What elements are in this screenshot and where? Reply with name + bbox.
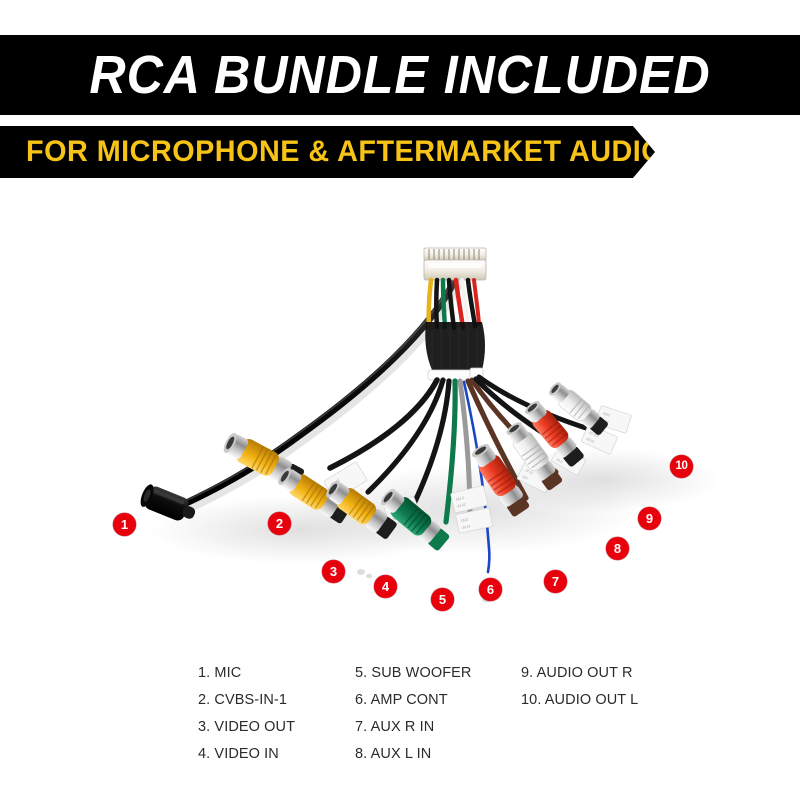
legend-column-1: 1. MIC 2. CVBS-IN-1 3. VIDEO OUT 4. VIDE… [198, 660, 295, 768]
callout-badge-8[interactable]: 8 [606, 537, 629, 560]
legend-item-3: 3. VIDEO OUT [198, 714, 295, 741]
heatshrink-cluster [425, 322, 485, 370]
subtitle-text: FOR MICROPHONE & AFTERMARKET AUDIO [26, 137, 664, 167]
legend-item-4: 4. VIDEO IN [198, 741, 295, 768]
callout-badge-10[interactable]: 10 [670, 455, 693, 478]
legend-item-10: 10. AUDIO OUT L [521, 687, 638, 714]
page-title: RCA BUNDLE INCLUDED [89, 48, 710, 102]
legend-item-8: 8. AUX L IN [355, 741, 472, 768]
blue-wire-amp-cont-tip [488, 548, 489, 572]
legend-item-9: 9. AUDIO OUT R [521, 660, 638, 687]
callout-badge-3[interactable]: 3 [322, 560, 345, 583]
legend-item-5: 5. SUB WOOFER [355, 660, 472, 687]
header-bar: RCA BUNDLE INCLUDED [0, 35, 800, 115]
legend-item-2: 2. CVBS-IN-1 [198, 687, 295, 714]
legend: 1. MIC 2. CVBS-IN-1 3. VIDEO OUT 4. VIDE… [0, 660, 800, 760]
callout-badge-7[interactable]: 7 [544, 570, 567, 593]
callout-badge-1[interactable]: 1 [113, 513, 136, 536]
legend-item-6: 6. AMP CONT [355, 687, 472, 714]
white-jst-connector [424, 248, 486, 280]
callout-badge-6[interactable]: 6 [479, 578, 502, 601]
legend-column-2: 5. SUB WOOFER 6. AMP CONT 7. AUX R IN 8.… [355, 660, 472, 768]
legend-column-3: 9. AUDIO OUT R 10. AUDIO OUT L [521, 660, 638, 714]
legend-item-7: 7. AUX R IN [355, 714, 472, 741]
subtitle-banner: FOR MICROPHONE & AFTERMARKET AUDIO [0, 126, 655, 178]
callout-badge-9[interactable]: 9 [638, 507, 661, 530]
callout-badge-2[interactable]: 2 [268, 512, 291, 535]
callout-badge-4[interactable]: 4 [374, 575, 397, 598]
callout-badge-5[interactable]: 5 [431, 588, 454, 611]
legend-item-1: 1. MIC [198, 660, 295, 687]
product-image: ZZZ ZZZZ ZZZZZZZ ZZ ZZZZZ ZZZ ZZZ ZZ ZZZ… [0, 180, 800, 660]
infographic-page: RCA BUNDLE INCLUDED FOR MICROPHONE & AFT… [0, 0, 800, 800]
